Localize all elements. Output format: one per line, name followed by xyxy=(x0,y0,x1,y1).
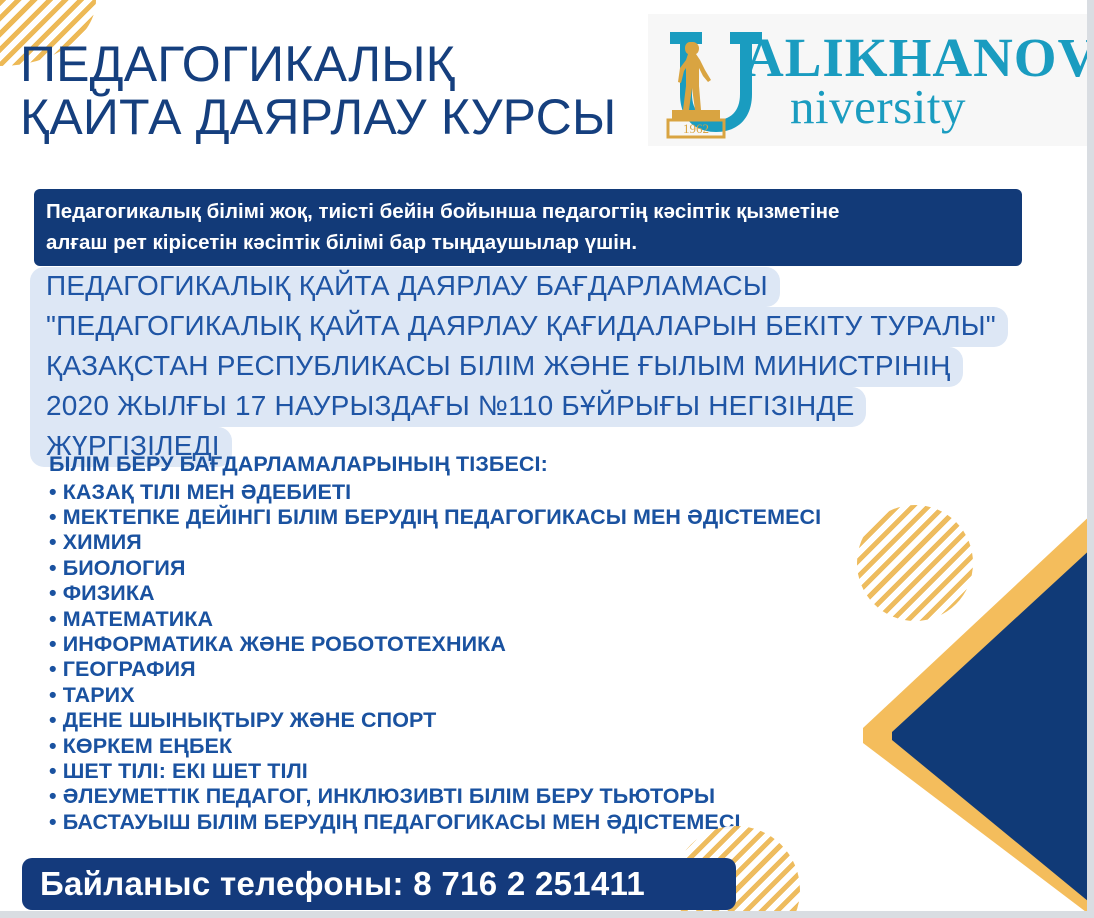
page-title: ПЕДАГОГИКАЛЫҚ ҚАЙТА ДАЯРЛАУ КУРСЫ xyxy=(20,38,680,144)
program-basis-line: 2020 ЖЫЛҒЫ 17 НАУРЫЗДАҒЫ №110 БҰЙРЫҒЫ НЕ… xyxy=(30,387,866,427)
list-item: • ТАРИХ xyxy=(49,683,879,708)
contact-phone-bar: Байланыс телефоны: 8 716 2 251411 xyxy=(22,858,736,910)
university-logo: 1962 ALIKHANOV niversity xyxy=(648,14,1094,146)
contact-phone-text: Байланыс телефоны: 8 716 2 251411 xyxy=(40,865,645,903)
intro-banner-line-1: Педагогикалық білімі жоқ, тиісті бейін б… xyxy=(46,200,839,223)
list-item: • ИНФОРМАТИКА ЖӘНЕ РОБОТОТЕХНИКА xyxy=(49,632,879,657)
page-edge-bottom xyxy=(0,911,1094,918)
list-item: • ГЕОГРАФИЯ xyxy=(49,657,879,682)
list-item: • ХИМИЯ xyxy=(49,530,879,555)
list-item: • ӘЛЕУМЕТТІК ПЕДАГОГ, ИНКЛЮЗИВТІ БІЛІМ Б… xyxy=(49,784,879,809)
program-basis-line: ҚАЗАҚСТАН РЕСПУБЛИКАСЫ БІЛІМ ЖӘНЕ ҒЫЛЫМ … xyxy=(30,347,963,387)
list-item: • ДЕНЕ ШЫНЫҚТЫРУ ЖӘНЕ СПОРТ xyxy=(49,708,879,733)
programs-list-block: БІЛІМ БЕРУ БАҒДАРЛАМАЛАРЫНЫҢ ТІЗБЕСІ: • … xyxy=(49,452,879,835)
page-edge-right xyxy=(1087,0,1094,918)
program-basis-box: ПЕДАГОГИКАЛЫҚ ҚАЙТА ДАЯРЛАУ БАҒДАРЛАМАСЫ… xyxy=(30,258,1065,481)
logo-year-text: 1962 xyxy=(683,121,709,136)
chevron-decoration xyxy=(855,488,1094,918)
logo-wordmark: ALIKHANOV niversity xyxy=(744,30,1094,133)
logo-word-bottom: niversity xyxy=(790,81,1094,133)
programs-list-heading: БІЛІМ БЕРУ БАҒДАРЛАМАЛАРЫНЫҢ ТІЗБЕСІ: xyxy=(49,452,879,478)
intro-banner: Педагогикалық білімі жоқ, тиісті бейін б… xyxy=(34,189,1022,266)
list-item: • МАТЕМАТИКА xyxy=(49,607,879,632)
list-item: • КАЗАҚ ТІЛІ МЕН ӘДЕБИЕТІ xyxy=(49,480,879,505)
logo-word-top: ALIKHANOV xyxy=(744,30,1094,85)
program-basis-line: "ПЕДАГОГИКАЛЫҚ ҚАЙТА ДАЯРЛАУ ҚАҒИДАЛАРЫН… xyxy=(30,307,1008,347)
list-item: • ШЕТ ТІЛІ: ЕКІ ШЕТ ТІЛІ xyxy=(49,759,879,784)
list-item: • БИОЛОГИЯ xyxy=(49,556,879,581)
intro-banner-line-2: алғаш рет кірісетін кәсіптік білімі бар … xyxy=(46,227,1008,258)
list-item: • МЕКТЕПКЕ ДЕЙІНГІ БІЛІМ БЕРУДІҢ ПЕДАГОГ… xyxy=(49,505,879,530)
program-basis-line: ПЕДАГОГИКАЛЫҚ ҚАЙТА ДАЯРЛАУ БАҒДАРЛАМАСЫ xyxy=(30,267,780,307)
poster-header: ПЕДАГОГИКАЛЫҚ ҚАЙТА ДАЯРЛАУ КУРСЫ 1962 A… xyxy=(0,0,1094,175)
poster-canvas: ПЕДАГОГИКАЛЫҚ ҚАЙТА ДАЯРЛАУ КУРСЫ 1962 A… xyxy=(0,0,1094,918)
list-item: • ФИЗИКА xyxy=(49,581,879,606)
list-item: • КӨРКЕМ ЕҢБЕК xyxy=(49,734,879,759)
